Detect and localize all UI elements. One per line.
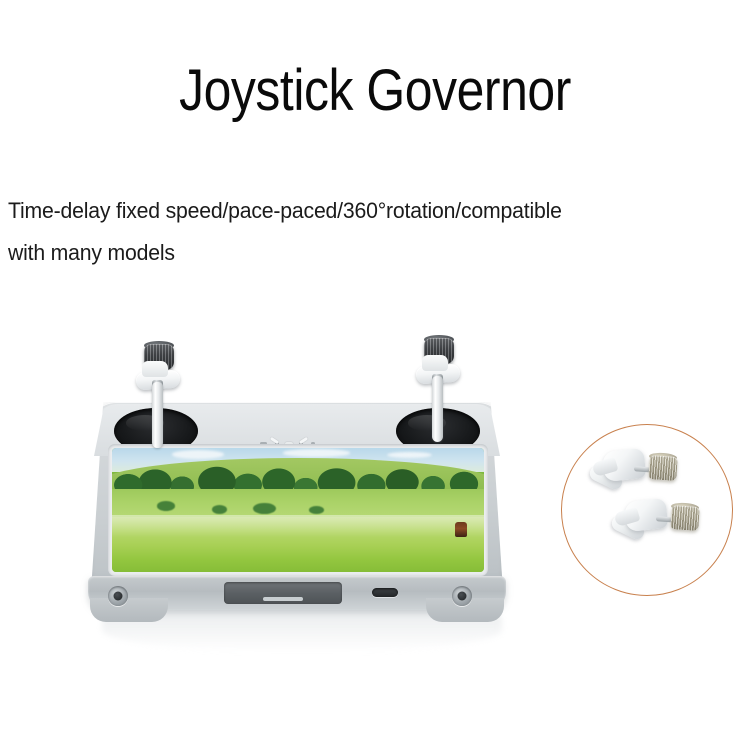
subtitle-line-1: Time-delay fixed speed/pace-paced/360°ro…	[8, 190, 724, 232]
cloud-1	[172, 450, 224, 459]
page-title: Joystick Governor	[53, 58, 698, 124]
controller-screen[interactable]	[112, 448, 484, 572]
left-clamp-ear	[142, 361, 168, 377]
cloud-3	[387, 452, 432, 458]
right-stick-post	[432, 376, 443, 442]
grazing-cow	[455, 522, 467, 537]
screen-bezel	[108, 444, 488, 576]
shrub-2	[212, 505, 227, 514]
meadow-highlight	[112, 515, 484, 537]
usb-c-port	[372, 588, 398, 597]
knurled-thumbscrew-upper	[648, 455, 678, 481]
shrub-4	[309, 506, 324, 513]
governor-clamp-lower	[609, 498, 705, 556]
remote-controller-photo	[72, 340, 522, 645]
accessory-closeup-inset	[561, 424, 733, 596]
subtitle-block: Time-delay fixed speed/pace-paced/360°ro…	[8, 190, 724, 274]
right-clamp-ear	[422, 355, 448, 371]
left-joystick-assembly[interactable]	[122, 340, 192, 450]
antenna-socket-right	[452, 586, 472, 606]
left-stick-post	[152, 382, 163, 448]
card-slot-panel	[224, 582, 342, 604]
subtitle-line-2: with many models	[8, 232, 724, 274]
knurled-thumbscrew-lower	[670, 505, 700, 531]
right-joystick-assembly[interactable]	[402, 334, 472, 444]
card-slot	[263, 597, 303, 601]
cloud-2	[283, 449, 350, 456]
antenna-socket-left	[108, 586, 128, 606]
product-marketing-image: Joystick Governor Time-delay fixed speed…	[0, 0, 750, 750]
bottom-foot-left	[90, 598, 168, 622]
shrub-3	[253, 503, 275, 514]
